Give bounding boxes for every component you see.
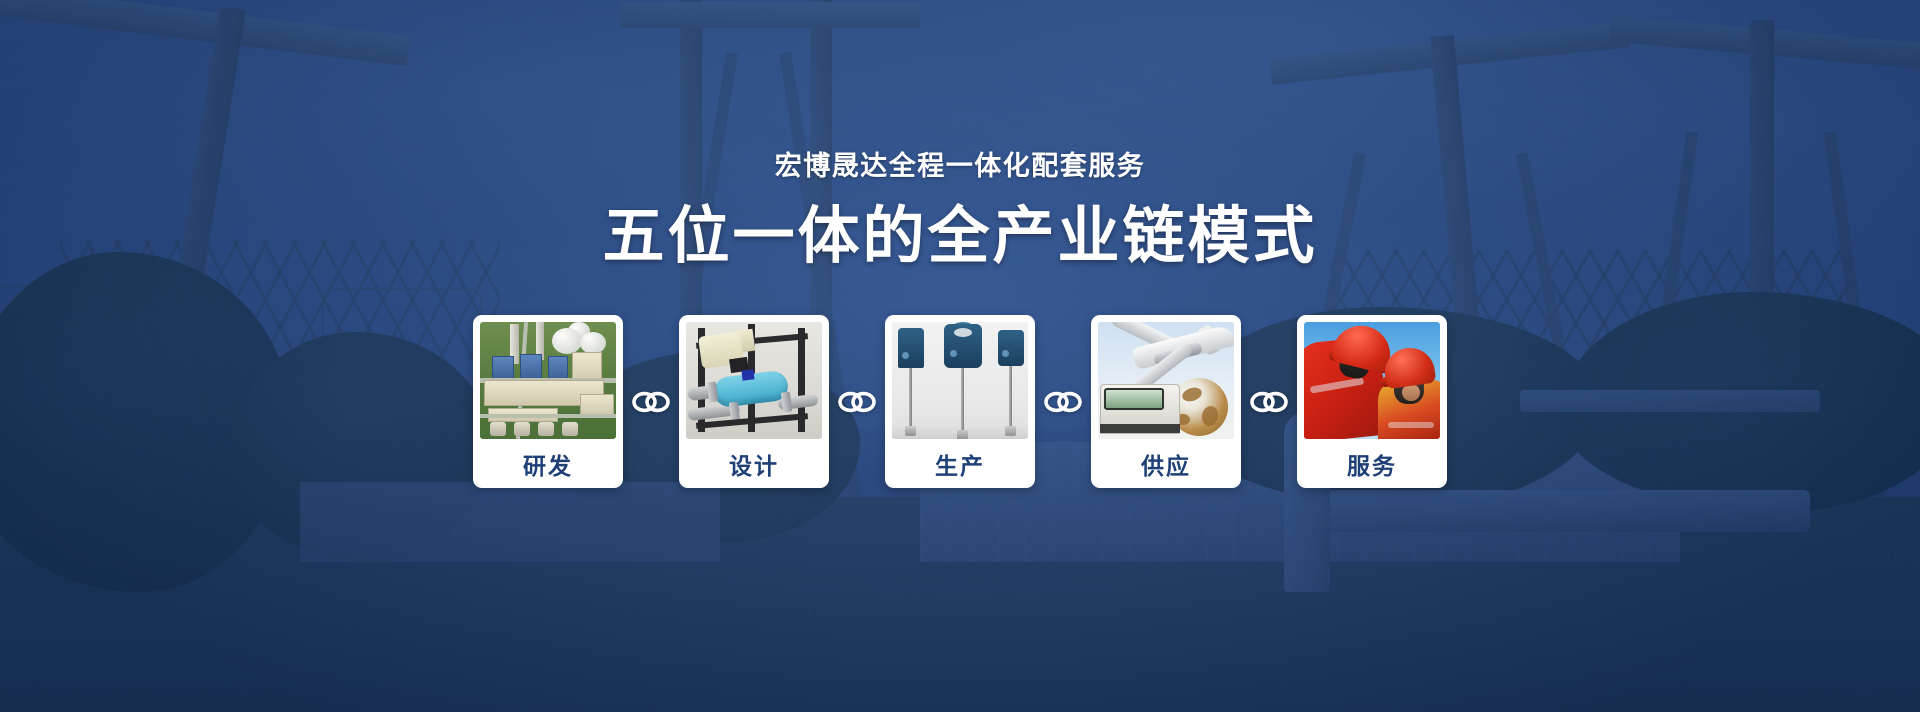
chain-card-label: 服务 [1304,439,1440,488]
hero-banner: 宏博晟达全程一体化配套服务 五位一体的全产业链模式 [0,0,1920,712]
chain-card-service[interactable]: 服务 [1297,315,1447,488]
chain-card-label: 研发 [480,439,616,488]
chain-card-supply[interactable]: 供应 [1091,315,1241,488]
field-workers-icon [1304,322,1440,439]
chain-link-icon [1035,390,1091,414]
value-chain-row: 研发 [473,315,1447,488]
banner-title: 五位一体的全产业链模式 [602,203,1317,271]
research-thumbnail [480,322,616,439]
banner-content: 宏博晟达全程一体化配套服务 五位一体的全产业链模式 [0,0,1920,712]
banner-subtitle: 宏博晟达全程一体化配套服务 [775,144,1146,183]
logistics-icon [1098,322,1234,439]
chain-card-label: 供应 [1098,439,1234,488]
chain-card-research[interactable]: 研发 [473,315,623,488]
supply-thumbnail [1098,322,1234,439]
production-thumbnail [892,322,1028,439]
design-thumbnail [686,322,822,439]
chain-card-label: 生产 [892,439,1028,488]
industrial-plant-icon [480,322,616,439]
service-thumbnail [1304,322,1440,439]
chain-link-icon [829,390,885,414]
chain-link-icon [1241,390,1297,414]
chain-card-design[interactable]: 设计 [679,315,829,488]
cad-render-icon [686,322,822,439]
chain-link-icon [623,390,679,414]
chain-card-label: 设计 [686,439,822,488]
chain-card-production[interactable]: 生产 [885,315,1035,488]
level-transmitter-icon [892,322,1028,439]
